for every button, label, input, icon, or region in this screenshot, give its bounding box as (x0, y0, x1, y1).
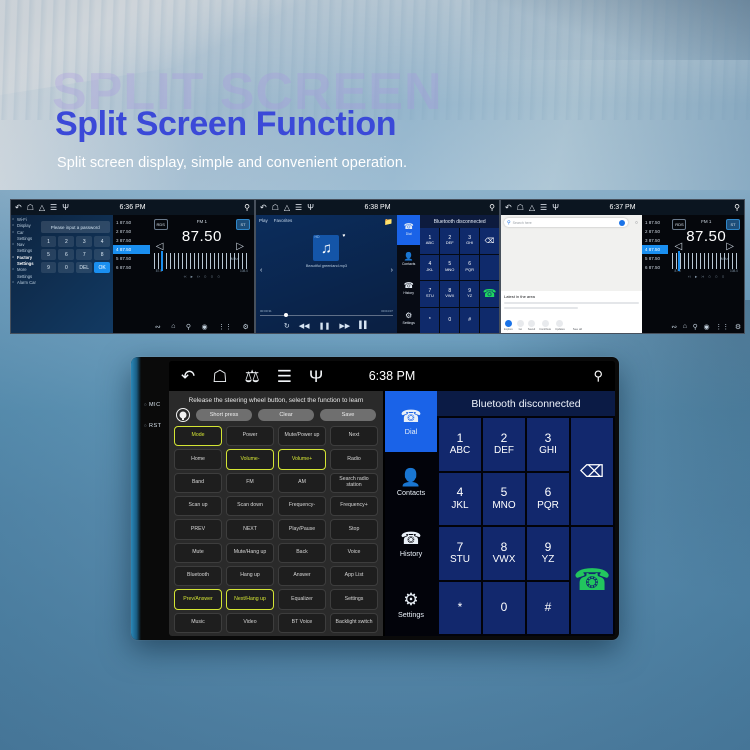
thumb1-body: Wi-Fi Display Car Settings Nav Settings … (11, 215, 254, 333)
dial-key[interactable]: 9YZ (460, 281, 479, 307)
dial-key[interactable]: # (460, 308, 479, 334)
keypad-key[interactable]: 2 (58, 236, 74, 247)
call-icon[interactable]: ☎ (480, 281, 499, 307)
steering-wheel-icon (176, 408, 190, 422)
thumb3-clock: 6:37 PM (609, 204, 635, 211)
chevron-up-icon[interactable]: △ (284, 204, 290, 212)
function-button-voice[interactable]: Voice (330, 543, 378, 563)
function-button-stop[interactable]: Stop (330, 519, 378, 539)
radio-main: RDS ST FM 1 ◁ 87.50 ▷ MHz 87.5 108.0 ‹‹ … (150, 215, 254, 333)
function-button-volume-up[interactable]: Volume+ (278, 449, 326, 469)
tab-play[interactable]: Play (259, 218, 268, 223)
map-nav-item[interactable]: Contribute (539, 320, 551, 331)
keypad-key[interactable]: 7 (76, 249, 92, 260)
thumb3-map-pane[interactable]: ⚲ Search here ○ ◎ ➤ Latest in the area E… (501, 215, 642, 333)
radio-bottom-bar: ∾ ⌂ ⚲ ◉ ⋮⋮ ⚙ (150, 323, 254, 331)
radio-preset[interactable]: 2 87.50 (113, 227, 150, 236)
function-button-hang-up[interactable]: Hang up (226, 566, 274, 586)
radio-preset[interactable]: 3 87.50 (113, 236, 150, 245)
thumb1-password-pad: Please input a password 1 2 3 4 5 6 7 8 … (38, 215, 114, 333)
learn-toolbar: Short press Clear Save (174, 408, 378, 426)
see-all-link[interactable]: See all (573, 327, 582, 331)
system-clock: 6:38 PM (369, 369, 416, 383)
function-button-bt-voice[interactable]: BT Voice (278, 613, 326, 633)
track-name: Beautiful greenland.mp3 (259, 264, 394, 268)
thumb2-status-bar: ↶ ☖ △ ☰ Ψ 6:38 PM ⚲ (256, 200, 499, 215)
thumb2-music-pane[interactable]: Play Favorites 📁 HD ♫ ♥ Beautiful greenl… (256, 215, 397, 333)
phone-nav-rail: ☎ Dial 👤 Contacts ☎ History ⚙ Settings (385, 391, 437, 636)
rail-item-settings[interactable]: ⚙ Settings (385, 575, 437, 636)
stereo-badge[interactable]: ST (236, 219, 250, 230)
dial-blank (480, 308, 499, 334)
home-icon[interactable]: ☖ (212, 368, 227, 385)
bezel-rst-label: RST (144, 423, 161, 429)
scan-icon[interactable]: ⌂ (171, 323, 175, 331)
globe-icon[interactable]: ◉ (201, 323, 207, 331)
radio-preset[interactable]: 6 87.50 (642, 263, 669, 272)
thumbnail-screen-1[interactable]: ↶ ☖ △ ☰ Ψ 6:36 PM ⚲ Wi-Fi Display Car Se… (10, 199, 255, 334)
settings-icon[interactable]: ⚙ (242, 323, 248, 331)
thumbnail-strip: ↶ ☖ △ ☰ Ψ 6:36 PM ⚲ Wi-Fi Display Car Se… (0, 199, 750, 339)
rail-label: Dial (405, 427, 417, 436)
prev-track-icon[interactable]: ‹ (260, 267, 262, 274)
dial-key[interactable]: 6PQR (460, 255, 479, 281)
go-icon (517, 320, 524, 327)
rail-label: Dial (406, 232, 412, 236)
phone-body: Bluetooth disconnected 1ABC 2DEF 3GHI ⌫ … (437, 391, 615, 636)
rds-badge[interactable]: RDS (672, 219, 686, 230)
seek-bar[interactable] (260, 315, 393, 316)
function-button-answer[interactable]: Answer (278, 566, 326, 586)
keypad-key[interactable]: 0 (58, 262, 74, 273)
function-button-band[interactable]: Band (174, 473, 222, 493)
rail-label: Settings (398, 610, 424, 619)
keypad-ok-key[interactable]: OK (94, 262, 110, 273)
next-track-icon[interactable]: › (391, 267, 393, 274)
phone-main: Bluetooth disconnected 1ABC 2DEF 3GHI ⌫ … (420, 215, 499, 333)
page-title: Split Screen Function (55, 105, 396, 144)
map-nav-item[interactable]: Saved (528, 320, 535, 331)
usb-icon[interactable]: Ψ (309, 368, 323, 385)
map-bottom-nav: Explore Go Saved Contribute Updates See … (504, 320, 582, 331)
thumb1-clock: 6:36 PM (119, 204, 145, 211)
map-nav-item[interactable]: Go (517, 320, 524, 331)
radio-preset[interactable]: 6 87.50 (113, 263, 150, 272)
history-icon: ☎ (404, 282, 414, 290)
backspace-icon[interactable]: ⌫ (480, 228, 499, 254)
clear-button[interactable]: Clear (258, 409, 314, 421)
clock-icon[interactable]: ○ (715, 274, 718, 280)
thumbnail-screen-2[interactable]: ↶ ☖ △ ☰ Ψ 6:38 PM ⚲ Play Favorites 📁 HD … (255, 199, 500, 334)
function-button-power[interactable]: Power (226, 426, 274, 446)
function-button-am[interactable]: AM (278, 473, 326, 493)
rail-item-dial[interactable]: ☎ Dial (397, 215, 420, 245)
function-button-play-pause[interactable]: Play/Pause (278, 519, 326, 539)
map-nav-item[interactable]: Explore (504, 320, 513, 331)
device-screen: ↶ ☖ ⚖ ☰ Ψ 6:38 PM ⚲ Release the steering… (169, 361, 615, 636)
time-total: 00:04:07 (381, 309, 393, 313)
map-search-input[interactable]: Search here (513, 221, 617, 225)
function-button-prev[interactable]: PREV (174, 519, 222, 539)
radio-preset[interactable]: 1 87.50 (642, 218, 669, 227)
chevron-up-icon[interactable]: △ (529, 204, 535, 212)
play-icon[interactable]: ▸ (695, 274, 697, 280)
music-controls: ↻ ◀◀ ❚❚ ▶▶ ▌▌ (256, 322, 397, 330)
map-search-bar[interactable]: ⚲ Search here (504, 218, 628, 227)
tune-up-icon[interactable]: ▷ (236, 241, 244, 252)
dial-key-2[interactable]: 2DEF (483, 418, 525, 471)
function-button-next[interactable]: Next (330, 426, 378, 446)
next-icon[interactable]: ›› (701, 274, 704, 280)
rail-label: History (400, 549, 422, 558)
short-press-button[interactable]: Short press (196, 409, 252, 421)
tune-up-icon[interactable]: ▷ (726, 241, 734, 252)
function-button-bluetooth[interactable]: Bluetooth (174, 566, 222, 586)
radio-preset[interactable]: 5 87.50 (642, 254, 669, 263)
nav-item-active[interactable]: Factory Settings (12, 255, 37, 268)
back-icon[interactable]: ↶ (505, 204, 512, 212)
contribute-icon (542, 320, 549, 327)
explore-icon (505, 320, 512, 327)
equalizer-icon[interactable]: ▌▌ (359, 322, 369, 330)
bottom-bar: Split Screen Function >>> SPLIT SCREEN F… (0, 640, 750, 750)
dial-key[interactable]: 0 (440, 308, 459, 334)
stereo-badge[interactable]: ST (726, 219, 740, 230)
equalizer-icon[interactable]: ⋮⋮ (218, 323, 232, 331)
keypad-key[interactable]: 1 (41, 236, 57, 247)
rail-label: Contacts (397, 488, 425, 497)
function-button-mute-hang-up[interactable]: Mute/Hang up (226, 543, 274, 563)
dial-keypad: 1ABC 2DEF 3GHI ⌫ 4JKL 5MNO 6PQR 7STU 8VW… (437, 416, 615, 636)
thumb3-radio-pane[interactable]: 1 87.50 2 87.50 3 87.50 4 87.50 5 87.50 … (642, 215, 744, 333)
dial-key-9[interactable]: 9YZ (527, 527, 569, 580)
location-pin-icon[interactable]: ⚲ (489, 203, 495, 212)
updates-icon (556, 320, 563, 327)
placeholder-line (504, 307, 578, 309)
learn-hint: Release the steering wheel button, selec… (174, 395, 378, 408)
music-tabs: Play Favorites (259, 218, 394, 223)
system-bar: ↶ ☖ ⚖ ☰ Ψ 6:38 PM ⚲ (169, 361, 615, 391)
home-icon[interactable]: ☖ (272, 204, 279, 212)
function-grid: Mode Power Mute/Power up Next Home Volum… (174, 426, 378, 633)
bluetooth-status: Bluetooth disconnected (437, 391, 615, 416)
keypad-key[interactable]: 4 (94, 236, 110, 247)
back-icon[interactable]: ↶ (260, 204, 267, 212)
rewind-icon[interactable]: ◀◀ (299, 322, 310, 330)
location-pin-icon[interactable]: ⚲ (734, 203, 740, 212)
radio-preset-list: 1 87.50 2 87.50 3 87.50 4 87.50 5 87.50 … (113, 215, 150, 333)
globe-icon[interactable]: ◉ (703, 323, 709, 331)
scale-labels: 87.5 108.0 (154, 269, 250, 273)
person-icon: 👤 (400, 469, 421, 486)
function-button-next-hang-up[interactable]: Next/Hang up (226, 589, 274, 609)
function-button-equalizer[interactable]: Equalizer (278, 589, 326, 609)
scan-icon[interactable]: ⌂ (683, 323, 687, 331)
prev-icon[interactable]: ‹‹ (184, 274, 187, 280)
save-button[interactable]: Save (320, 409, 376, 421)
usb-icon[interactable]: Ψ (552, 204, 559, 212)
dial-key-0[interactable]: 0 (483, 582, 525, 635)
radio-preset-selected[interactable]: 4 87.50 (642, 245, 669, 254)
usb-icon[interactable]: Ψ (62, 204, 69, 212)
password-input[interactable]: Please input a password (41, 221, 111, 233)
heart-icon[interactable]: ♥ (343, 233, 346, 239)
phone-icon: ☎ (404, 223, 414, 231)
rds-badge[interactable]: RDS (154, 219, 168, 230)
call-icon[interactable]: ☎ (571, 527, 613, 634)
info-icon[interactable]: ○ (722, 274, 725, 280)
equalizer-icon[interactable]: ⋮⋮ (715, 323, 729, 331)
scale-max: 108.0 (730, 269, 738, 273)
scale-max: 108.0 (240, 269, 248, 273)
loop-icon[interactable]: ○ (204, 274, 207, 280)
dial-key-6[interactable]: 6PQR (527, 473, 569, 526)
thumbnail-screen-3[interactable]: ↶ ☖ △ ☰ Ψ 6:37 PM ⚲ ⚲ Search here ○ ◎ ➤ … (500, 199, 745, 334)
hero-section: SPLIT SCREEN Split Screen Function Split… (0, 0, 750, 195)
search-icon[interactable]: ⚲ (186, 323, 191, 331)
location-pin-icon[interactable]: ⚲ (593, 368, 603, 384)
phone-rail: ☎ Dial 👤 Contacts ☎ History ⚙ Settings (397, 215, 420, 333)
location-pin-icon[interactable]: ⚲ (244, 203, 250, 212)
back-icon[interactable]: ↶ (181, 368, 195, 385)
map-info-card: Latest in the area Explore Go Saved Cont… (501, 291, 642, 333)
thumb2-phone-pane[interactable]: ☎ Dial 👤 Contacts ☎ History ⚙ Settings (397, 215, 499, 333)
function-button-search-radio[interactable]: Search radio station (330, 473, 378, 493)
search-icon[interactable]: ⚲ (693, 323, 698, 331)
map-nav-item[interactable]: Updates (555, 320, 565, 331)
map-card-title: Latest in the area (504, 294, 639, 299)
radio-subcontrols: ‹‹ ▸ ›› ○ ○ ○ (154, 274, 250, 280)
repeat-icon[interactable]: ↻ (284, 322, 290, 330)
split-screen-panes: Release the steering wheel button, selec… (169, 391, 615, 636)
function-button-volume-down[interactable]: Volume- (226, 449, 274, 469)
dial-key-3[interactable]: 3GHI (527, 418, 569, 471)
dial-key-5[interactable]: 5MNO (483, 473, 525, 526)
dial-key[interactable]: * (420, 308, 439, 334)
radio-preset[interactable]: 2 87.50 (642, 227, 669, 236)
dial-key-hash[interactable]: # (527, 582, 569, 635)
backspace-icon[interactable]: ⌫ (571, 418, 613, 525)
keypad-key[interactable]: 9 (41, 262, 57, 273)
rail-item-settings[interactable]: ⚙ Settings (397, 304, 420, 334)
function-button-app-list[interactable]: App List (330, 566, 378, 586)
menu-icon[interactable]: ☰ (50, 204, 57, 212)
clock-icon[interactable]: ○ (211, 274, 214, 280)
menu-icon[interactable]: ☰ (540, 204, 547, 212)
map-overflow-icon[interactable]: ○ (635, 220, 638, 226)
play-icon[interactable]: ▸ (191, 274, 193, 280)
home-icon[interactable]: ☖ (517, 204, 524, 212)
search-pin-icon: ⚲ (507, 220, 511, 226)
time-elapsed: 00:00:31 (260, 309, 272, 313)
bluetooth-status: Bluetooth disconnected (420, 215, 499, 228)
scale-labels: 87.5 108.0 (672, 269, 740, 273)
album-art: HD ♫ ♥ (313, 235, 339, 261)
menu-icon[interactable]: ☰ (277, 368, 292, 385)
radio-preset[interactable]: 3 87.50 (642, 236, 669, 245)
keypad-key[interactable]: 3 (76, 236, 92, 247)
thumb1-settings-pane[interactable]: Wi-Fi Display Car Settings Nav Settings … (11, 215, 113, 333)
thumb2-body: Play Favorites 📁 HD ♫ ♥ Beautiful greenl… (256, 215, 499, 333)
nav-item[interactable]: More Settings (12, 267, 37, 280)
radio-preset[interactable]: 5 87.50 (113, 254, 150, 263)
radio-preset-selected[interactable]: 4 87.50 (113, 245, 150, 254)
antenna-icon[interactable]: ∾ (671, 323, 677, 331)
thumb3-status-bar: ↶ ☖ △ ☰ Ψ 6:37 PM ⚲ (501, 200, 744, 215)
thumb3-body: ⚲ Search here ○ ◎ ➤ Latest in the area E… (501, 215, 744, 333)
rail-item-dial[interactable]: ☎ Dial (385, 391, 437, 452)
home-icon[interactable]: ☖ (27, 204, 34, 212)
rail-item-history[interactable]: ☎ History (385, 514, 437, 575)
nav-item[interactable]: Alarm Car (12, 280, 37, 286)
rail-item-contacts[interactable]: 👤 Contacts (385, 452, 437, 513)
function-button-scan-up[interactable]: Scan up (174, 496, 222, 516)
function-button-back[interactable]: Back (278, 543, 326, 563)
gear-icon: ⚙ (403, 591, 418, 608)
rail-label: Settings (403, 321, 415, 325)
keypad-key[interactable]: 5 (41, 249, 57, 260)
main-head-unit: MIC RST ↶ ☖ ⚖ ☰ Ψ 6:38 PM ⚲ Release the … (131, 357, 619, 640)
keypad-key[interactable]: 6 (58, 249, 74, 260)
nav-item[interactable]: Car Settings (12, 230, 37, 243)
function-button-prev-answer[interactable]: Prev/Answer (174, 589, 222, 609)
menu-icon[interactable]: ☰ (295, 204, 302, 212)
dial-key[interactable]: 7STU (420, 281, 439, 307)
rail-item-history[interactable]: ☎ History (397, 274, 420, 304)
function-button-next2[interactable]: NEXT (226, 519, 274, 539)
dial-key[interactable]: 4JKL (420, 255, 439, 281)
track-times: 00:00:31 00:04:07 (260, 309, 393, 313)
thumb1-settings-nav[interactable]: Wi-Fi Display Car Settings Nav Settings … (11, 215, 38, 333)
dial-key-4[interactable]: 4JKL (439, 473, 481, 526)
next-icon[interactable]: ›› (197, 274, 200, 280)
function-button-frequency-up[interactable]: Frequency+ (330, 496, 378, 516)
dial-key[interactable]: 1ABC (420, 228, 439, 254)
function-button-mode[interactable]: Mode (174, 426, 222, 446)
function-button-radio[interactable]: Radio (330, 449, 378, 469)
function-button-music[interactable]: Music (174, 613, 222, 633)
phone-icon: ☎ (400, 408, 421, 425)
dial-key[interactable]: 2DEF (440, 228, 459, 254)
hero-subtitle: Split screen display, simple and conveni… (57, 155, 407, 171)
function-button-scan-down[interactable]: Scan down (226, 496, 274, 516)
rail-label: History (403, 291, 414, 295)
function-button-backlight[interactable]: Backlight switch (330, 613, 378, 633)
rail-label: Contacts (402, 262, 415, 266)
dial-key[interactable]: 8VWX (440, 281, 459, 307)
dial-key-8[interactable]: 8VWX (483, 527, 525, 580)
gear-icon: ⚙ (405, 312, 412, 320)
dial-key-1[interactable]: 1ABC (439, 418, 481, 471)
back-icon[interactable]: ↶ (15, 204, 22, 212)
radio-main: RDS ST FM 1 ◁ 87.50 ▷ MHz 87.5 108.0 ‹‹ … (668, 215, 744, 333)
pause-icon[interactable]: ❚❚ (319, 322, 331, 330)
bezel-mic-label: MIC (144, 402, 161, 408)
rail-item-contacts[interactable]: 👤 Contacts (397, 245, 420, 275)
thumb2-clock: 6:38 PM (364, 204, 390, 211)
radio-subcontrols: ‹‹ ▸ ›› ○ ○ ○ (672, 274, 740, 280)
dial-key-star[interactable]: * (439, 582, 481, 635)
settings-icon[interactable]: ⚙ (735, 323, 741, 331)
forward-icon[interactable]: ▶▶ (339, 322, 350, 330)
function-button-video[interactable]: Video (226, 613, 274, 633)
numeric-keypad: 1 2 3 4 5 6 7 8 9 0 DEL OK (41, 236, 111, 273)
quality-badge: HD (314, 235, 319, 239)
function-button-home[interactable]: Home (174, 449, 222, 469)
saved-icon (528, 320, 535, 327)
dial-key[interactable]: 3GHI (460, 228, 479, 254)
usb-icon[interactable]: Ψ (307, 204, 314, 212)
function-button-mute-power-up[interactable]: Mute/Power up (278, 426, 326, 446)
tuning-scale[interactable] (154, 253, 250, 269)
info-icon[interactable]: ○ (217, 274, 220, 280)
thumb1-radio-pane[interactable]: 1 87.50 2 87.50 3 87.50 4 87.50 5 87.50 … (113, 215, 254, 333)
function-button-mute[interactable]: Mute (174, 543, 222, 563)
dial-keypad: 1ABC 2DEF 3GHI ⌫ 4JKL 5MNO 6PQR 7STU 8VW… (420, 228, 499, 333)
steering-wheel-learn-pane: Release the steering wheel button, selec… (169, 391, 383, 636)
dial-key-7[interactable]: 7STU (439, 527, 481, 580)
dial-key[interactable]: 5MNO (440, 255, 459, 281)
radio-preset-list: 1 87.50 2 87.50 3 87.50 4 87.50 5 87.50 … (642, 215, 669, 333)
function-button-settings[interactable]: Settings (330, 589, 378, 609)
nav-item[interactable]: Nav Settings (12, 242, 37, 255)
avatar[interactable] (619, 220, 625, 226)
radio-preset[interactable]: 1 87.50 (113, 218, 150, 227)
keypad-delete-key[interactable]: DEL (76, 262, 92, 273)
chevron-up-icon[interactable]: ⚖ (245, 368, 260, 385)
antenna-icon[interactable]: ∾ (155, 323, 161, 331)
placeholder-line (504, 302, 639, 304)
function-button-frequency-down[interactable]: Frequency- (278, 496, 326, 516)
phone-pane: ☎ Dial 👤 Contacts ☎ History ⚙ Settings (385, 391, 615, 636)
loop-icon[interactable]: ○ (708, 274, 711, 280)
thumb1-status-bar: ↶ ☖ △ ☰ Ψ 6:36 PM ⚲ (11, 200, 254, 215)
dial-blank (480, 255, 499, 281)
keypad-key[interactable]: 8 (94, 249, 110, 260)
tuning-scale[interactable] (672, 253, 740, 269)
tab-favorites[interactable]: Favorites (274, 218, 293, 223)
person-icon: 👤 (404, 253, 414, 261)
function-button-fm[interactable]: FM (226, 473, 274, 493)
chevron-up-icon[interactable]: △ (39, 204, 45, 212)
radio-bottom-bar: ∾ ⌂ ⚲ ◉ ⋮⋮ ⚙ (668, 323, 744, 331)
history-icon: ☎ (400, 530, 421, 547)
folder-icon[interactable]: 📁 (384, 218, 393, 226)
prev-icon[interactable]: ‹‹ (688, 274, 691, 280)
